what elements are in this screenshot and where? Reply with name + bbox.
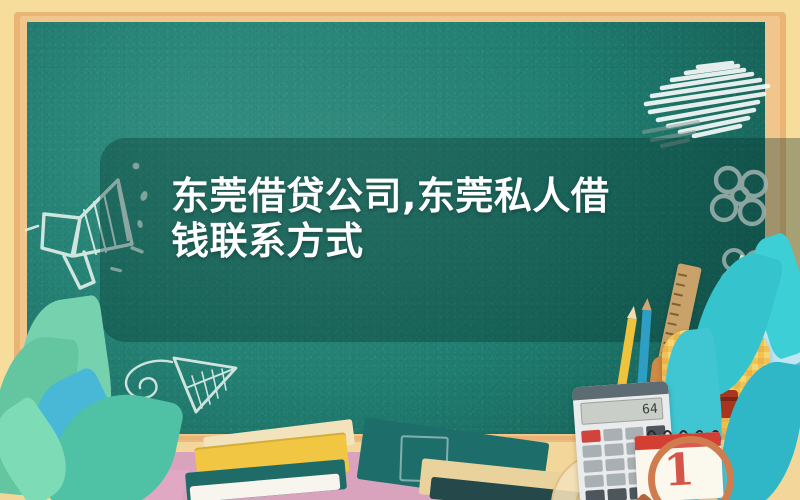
cloud-scribble-icon bbox=[628, 40, 788, 150]
calculator-display: 64 bbox=[580, 397, 663, 425]
page-title: 东莞借贷公司,东莞私人借钱联系方式 bbox=[171, 174, 641, 264]
banner-image: 东莞借贷公司,东莞私人借钱联系方式 64 bbox=[0, 0, 800, 500]
